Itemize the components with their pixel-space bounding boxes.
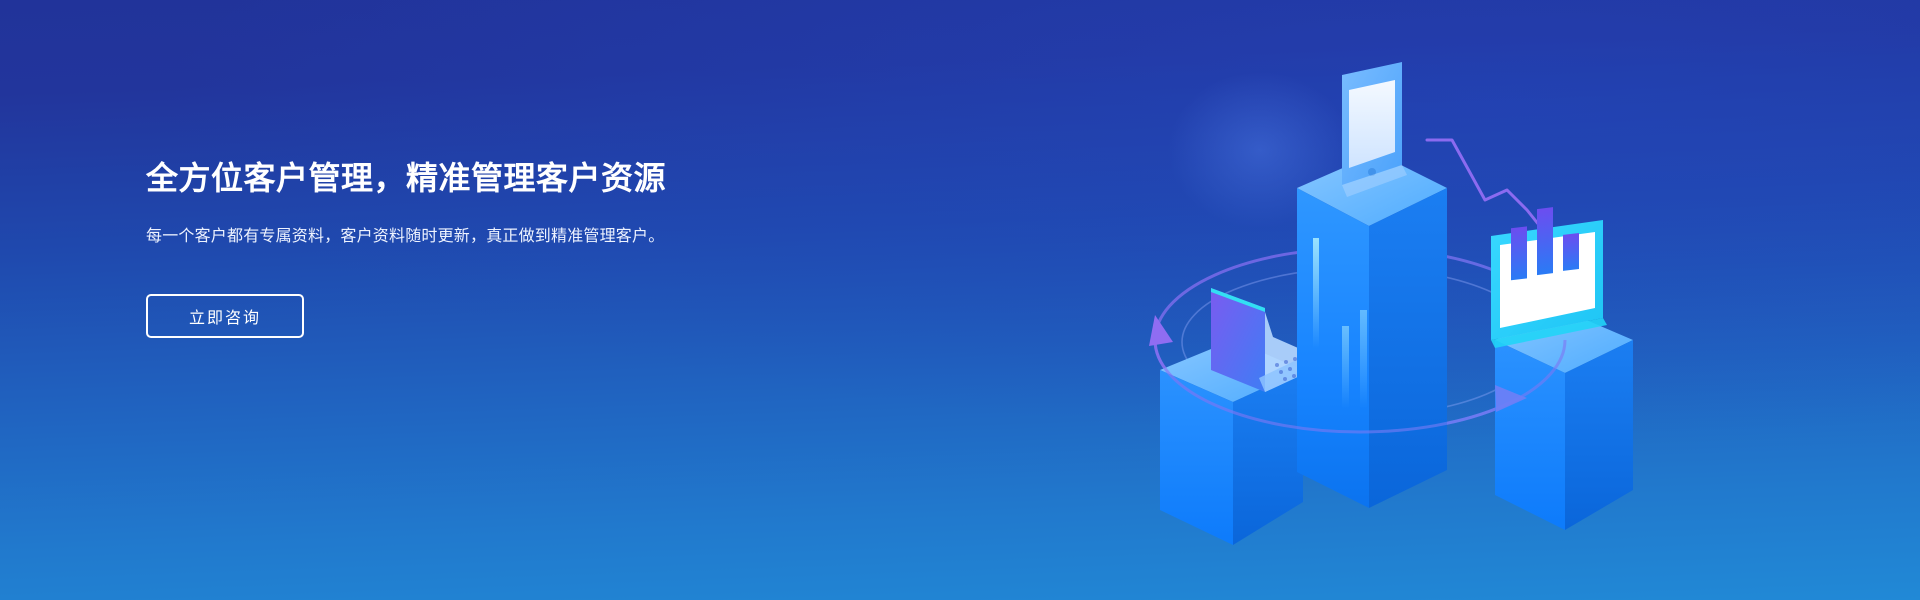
page-title: 全方位客户管理，精准管理客户资源 (146, 160, 786, 198)
consult-now-button[interactable]: 立即咨询 (146, 294, 304, 338)
pillar-streak (1342, 326, 1349, 408)
hero-banner: 全方位客户管理，精准管理客户资源 每一个客户都有专属资料，客户资料随时更新，真正… (0, 0, 1920, 600)
pillar-streak (1360, 310, 1367, 408)
hero-copy-block: 全方位客户管理，精准管理客户资源 每一个客户都有专属资料，客户资料随时更新，真正… (146, 160, 786, 338)
hero-subtitle: 每一个客户都有专属资料，客户资料随时更新，真正做到精准管理客户。 (146, 224, 746, 250)
center-pillar (1297, 153, 1447, 508)
hero-illustration (1155, 40, 1655, 560)
pillar-streak (1313, 238, 1319, 348)
tablet-device (1342, 62, 1407, 197)
chart-monitor-device (1491, 207, 1607, 348)
monitor-bar-chart (1511, 207, 1579, 280)
